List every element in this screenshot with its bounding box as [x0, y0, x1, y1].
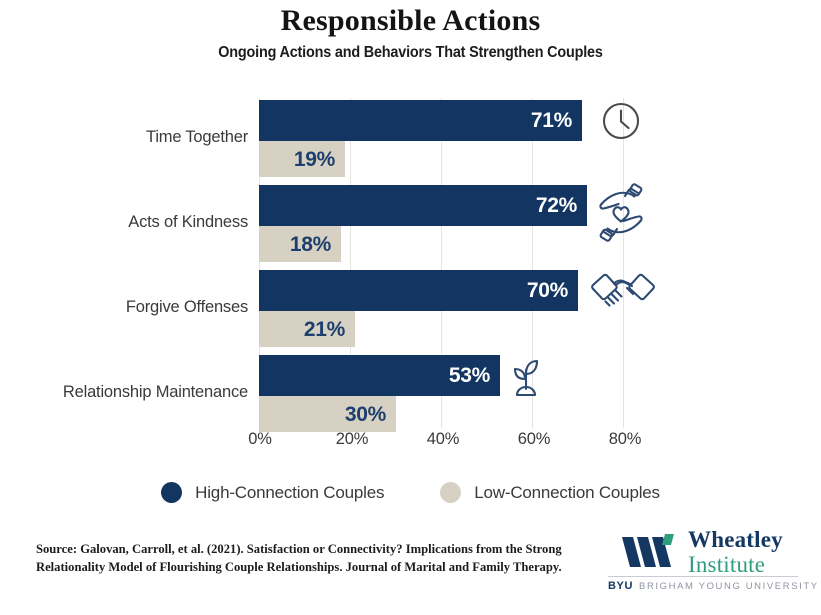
- bar-high-acts-of-kindness[interactable]: 72%: [259, 185, 587, 226]
- source-citation-line-2: Relationality Model of Flourishing Coupl…: [36, 558, 581, 576]
- x-axis: 0% 20% 40% 60% 80%: [0, 430, 821, 460]
- byu-full-name: BRIGHAM YOUNG UNIVERSITY: [639, 581, 819, 592]
- chart-subtitle: Ongoing Actions and Behaviors That Stren…: [29, 44, 793, 62]
- byu-attribution: BYU BRIGHAM YOUNG UNIVERSITY: [608, 580, 819, 592]
- logo-divider: [608, 576, 798, 577]
- clock-icon: [601, 101, 641, 146]
- wheatley-institute-logo: Wheatley Institute BYU BRIGHAM YOUNG UNI…: [608, 528, 798, 592]
- bar-low-time-together[interactable]: 19%: [259, 141, 345, 177]
- legend-label-high-connection: High-Connection Couples: [195, 483, 384, 503]
- legend-swatch-high-connection: [161, 482, 182, 503]
- xtick-label-40: 40%: [413, 430, 473, 449]
- chart-legend: High-Connection Couples Low-Connection C…: [0, 482, 821, 503]
- bar-high-time-together[interactable]: 71%: [259, 100, 582, 141]
- chart-plot-area: Time Together 71% 19% Acts of Kindness 7…: [0, 92, 821, 432]
- legend-label-low-connection: Low-Connection Couples: [474, 483, 660, 503]
- category-label-relationship-maintenance: Relationship Maintenance: [0, 383, 248, 402]
- bar-group-relationship-maintenance: Relationship Maintenance 53% 30%: [0, 355, 821, 431]
- bar-low-acts-of-kindness[interactable]: 18%: [259, 226, 341, 262]
- seedling-icon: [502, 353, 550, 408]
- legend-swatch-low-connection: [440, 482, 461, 503]
- source-citation-line-1: Source: Galovan, Carroll, et al. (2021).…: [36, 540, 581, 558]
- xtick-label-20: 20%: [322, 430, 382, 449]
- bar-high-relationship-maintenance[interactable]: 53%: [259, 355, 500, 396]
- bar-group-time-together: Time Together 71% 19%: [0, 100, 821, 176]
- logo-word-wheatley: Wheatley: [688, 528, 783, 551]
- bar-high-forgive-offenses[interactable]: 70%: [259, 270, 578, 311]
- bar-value-low-time-together: 19%: [294, 149, 335, 170]
- category-label-acts-of-kindness: Acts of Kindness: [0, 213, 248, 232]
- byu-abbrev: BYU: [608, 580, 633, 592]
- bar-value-low-relationship-maintenance: 30%: [345, 404, 386, 425]
- bar-value-high-time-together: 71%: [531, 110, 572, 131]
- category-label-time-together: Time Together: [0, 128, 248, 147]
- bar-value-low-forgive-offenses: 21%: [304, 319, 345, 340]
- legend-item-high-connection[interactable]: High-Connection Couples: [161, 482, 384, 503]
- bar-value-low-acts-of-kindness: 18%: [290, 234, 331, 255]
- xtick-label-0: 0%: [230, 430, 290, 449]
- bar-low-relationship-maintenance[interactable]: 30%: [259, 396, 396, 432]
- legend-item-low-connection[interactable]: Low-Connection Couples: [440, 482, 660, 503]
- source-citation: Source: Galovan, Carroll, et al. (2021).…: [36, 540, 581, 577]
- wheatley-w-mark-icon: [620, 532, 684, 577]
- bar-group-forgive-offenses: Forgive Offenses 70% 21%: [0, 270, 821, 346]
- bar-value-high-relationship-maintenance: 53%: [449, 365, 490, 386]
- category-label-forgive-offenses: Forgive Offenses: [0, 298, 248, 317]
- bar-value-high-acts-of-kindness: 72%: [536, 195, 577, 216]
- handshake-icon: [589, 266, 657, 321]
- bar-value-high-forgive-offenses: 70%: [527, 280, 568, 301]
- hands-holding-heart-icon: [590, 180, 652, 255]
- bar-low-forgive-offenses[interactable]: 21%: [259, 311, 355, 347]
- page-title: Responsible Actions: [0, 4, 821, 38]
- wheatley-wordmark: Wheatley Institute: [688, 528, 783, 576]
- xtick-label-80: 80%: [595, 430, 655, 449]
- logo-word-institute: Institute: [688, 553, 783, 576]
- bar-group-acts-of-kindness: Acts of Kindness 72% 18%: [0, 185, 821, 261]
- xtick-label-60: 60%: [504, 430, 564, 449]
